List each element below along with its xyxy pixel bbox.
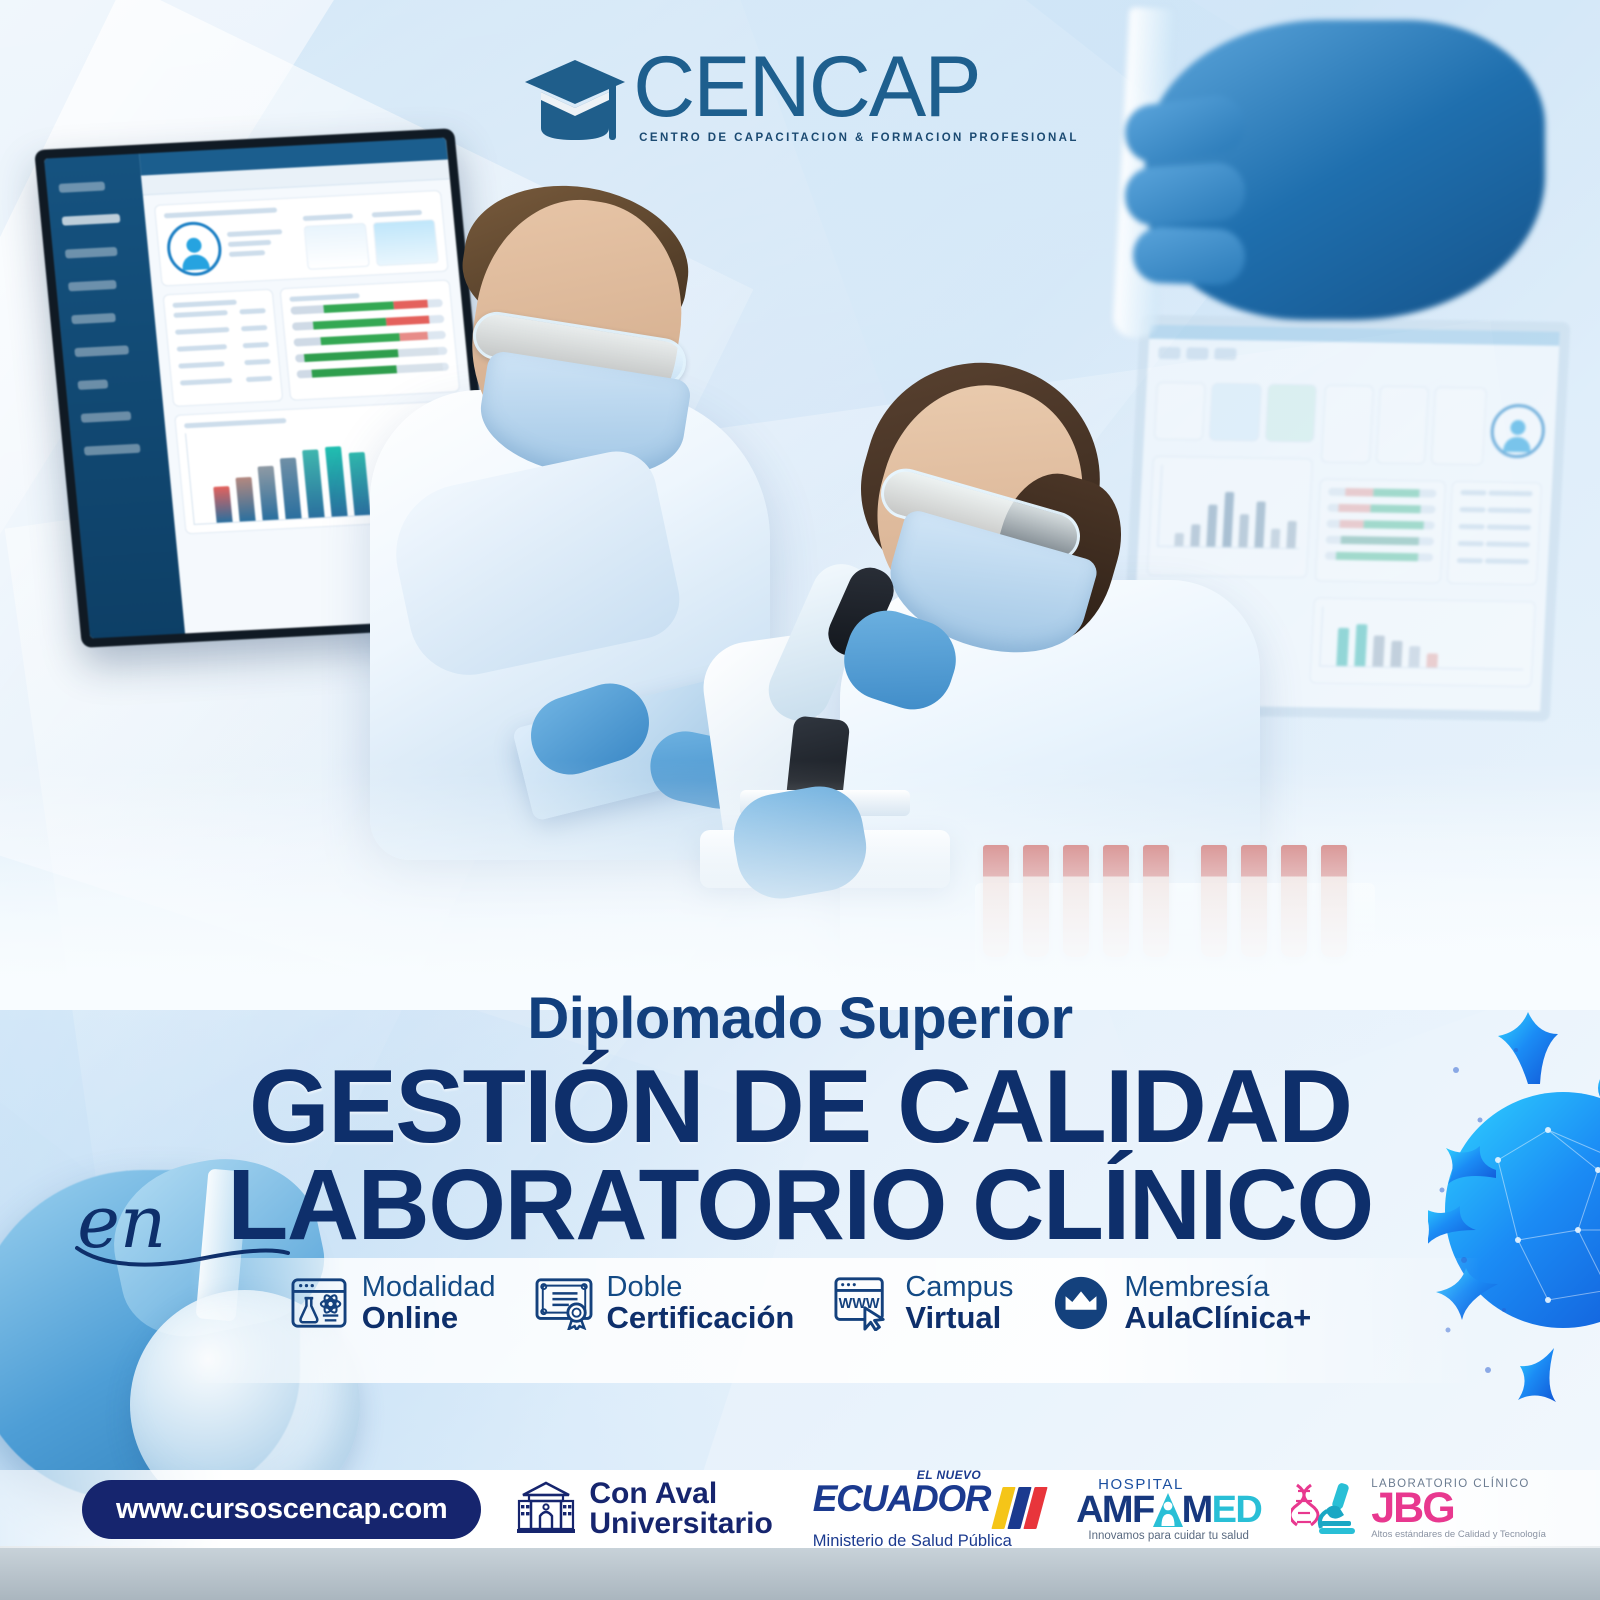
chart-bar [280, 457, 302, 519]
user-avatar-icon [165, 221, 224, 278]
hospital-logo: HOSPITAL AMF M ED Innovamos para cuidar … [1076, 1476, 1261, 1542]
chart-bar [257, 465, 278, 520]
lab-photo-scene [0, 0, 1600, 1010]
lab-tagline: Altos estándares de Calidad y Tecnología [1371, 1529, 1546, 1540]
feature-label-top: Doble [607, 1272, 795, 1302]
feature-label-bottom: Certificación [607, 1302, 795, 1334]
hospital-name-c: ED [1212, 1493, 1262, 1527]
website-url-pill[interactable]: www.cursoscencap.com [82, 1480, 481, 1539]
brand-logo[interactable]: CENCAP CENTRO DE CAPACITACION & FORMACIO… [0, 48, 1600, 148]
hospital-name-a: AMF [1076, 1493, 1154, 1527]
feature-label-top: Campus [905, 1272, 1013, 1302]
graduation-cap-icon [521, 56, 629, 148]
chart-bar [325, 447, 348, 517]
browser-flask-atom-icon [289, 1274, 349, 1332]
lab-name: JBG [1371, 1490, 1546, 1527]
footer-bar: www.cursoscencap.com Con Aval Universita… [0, 1470, 1600, 1548]
crown-circle-icon [1051, 1274, 1111, 1332]
ministry-name: ECUADOR [813, 1482, 990, 1516]
user-avatar-icon [1489, 404, 1546, 459]
chart-bar [213, 486, 232, 522]
person-shield-icon [1153, 1493, 1183, 1527]
dna-microscope-icon [1291, 1481, 1363, 1537]
university-building-icon [515, 1480, 577, 1538]
course-title-line2: LABORATORIO CLÍNICO [227, 1149, 1373, 1261]
feature-label-top: Membresía [1124, 1272, 1311, 1302]
www-browser-cursor-icon: WWW [832, 1274, 892, 1332]
bottom-edge [0, 1546, 1600, 1600]
hospital-tagline: Innovamos para cuidar tu salud [1088, 1530, 1248, 1542]
feature-strip: Modalidad Online [0, 1272, 1600, 1334]
aval-line1: Con Aval [589, 1479, 772, 1509]
lab-logo: LABORATORIO CLÍNICO JBG Altos estándares… [1291, 1478, 1546, 1540]
feature-label-bottom: Online [362, 1302, 496, 1334]
hospital-name-b: M [1182, 1493, 1212, 1527]
feature-campus-virtual[interactable]: WWW Campus Virtual [813, 1272, 1032, 1334]
feature-label-bottom: Virtual [905, 1302, 1013, 1334]
ecuador-flag-icon [997, 1487, 1042, 1529]
aval-universitario: Con Aval Universitario [515, 1479, 772, 1539]
ministry-sub: Ministerio de Salud Pública [813, 1532, 1012, 1551]
svg-text:WWW: WWW [839, 1296, 880, 1312]
feature-doble-certificacion[interactable]: Doble Certificación [515, 1272, 814, 1334]
aval-line2: Universitario [589, 1509, 772, 1539]
brand-name: CENCAP [633, 48, 1079, 127]
pre-title: Diplomado Superior [0, 985, 1600, 1052]
chart-bar [302, 449, 325, 518]
course-title-line1: GESTIÓN DE CALIDAD [0, 1058, 1600, 1158]
feature-modalidad-online[interactable]: Modalidad Online [270, 1272, 515, 1334]
brand-tagline: CENTRO DE CAPACITACION & FORMACION PROFE… [639, 132, 1079, 144]
chart-bar [235, 477, 255, 522]
feature-label-top: Modalidad [362, 1272, 496, 1302]
ministry-logo: EL NUEVO ECUADOR Ministerio de Salud Púb… [813, 1468, 1042, 1551]
promotional-poster: CENCAP CENTRO DE CAPACITACION & FORMACIO… [0, 0, 1600, 1600]
headline-block: Diplomado Superior GESTIÓN DE CALIDAD en… [0, 985, 1600, 1254]
feature-label-bottom: AulaClínica+ [1124, 1302, 1311, 1334]
certificate-seal-icon [534, 1274, 594, 1332]
feature-membresia-aulaclinica[interactable]: Membresía AulaClínica+ [1032, 1272, 1330, 1334]
